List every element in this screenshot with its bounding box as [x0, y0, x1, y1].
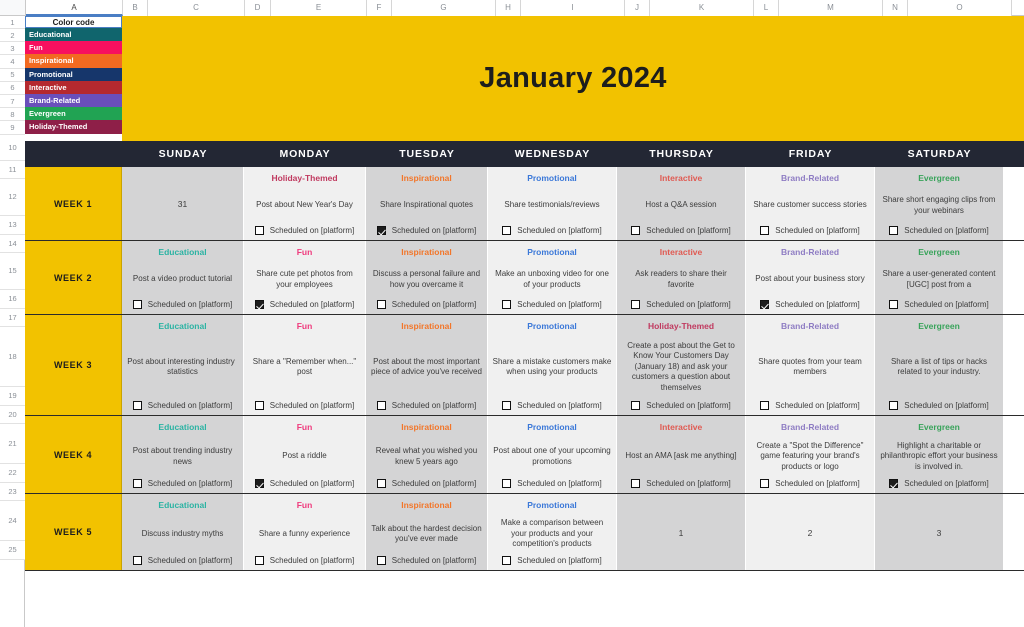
calendar-cell[interactable]: EvergreenShare a list of tips or hacks r… [875, 315, 1004, 415]
weekday-header-monday: MONDAY [244, 141, 366, 167]
post-description: Host an AMA [ask me anything] [621, 437, 741, 476]
scheduled-row[interactable]: Scheduled on [platform] [750, 226, 870, 235]
scheduled-label: Scheduled on [platform] [270, 401, 355, 410]
scheduled-row[interactable]: Scheduled on [platform] [370, 401, 483, 410]
post-description: Post a riddle [248, 437, 361, 476]
calendar-cell[interactable]: 31 [122, 167, 244, 240]
scheduled-label: Scheduled on [platform] [148, 556, 233, 565]
post-category-label: Inspirational [401, 321, 452, 332]
column-header-M[interactable]: M [779, 0, 883, 16]
scheduled-label: Scheduled on [platform] [904, 401, 989, 410]
week-label-4: WEEK 4 [25, 416, 122, 493]
calendar-cell[interactable]: PromotionalShare a mistake customers mak… [488, 315, 617, 415]
scheduled-checkbox[interactable] [631, 300, 640, 309]
post-category-label: Inspirational [401, 173, 452, 184]
post-category-label: Fun [297, 321, 313, 332]
scheduled-row[interactable]: Scheduled on [platform] [879, 300, 999, 309]
post-category-label: Interactive [660, 173, 703, 184]
post-category-label: Inspirational [401, 422, 452, 433]
row-number-22[interactable]: 22 [0, 464, 25, 483]
week-label-2: WEEK 2 [25, 241, 122, 314]
day-number: 1 [621, 500, 741, 565]
row-number-17[interactable]: 17 [0, 309, 25, 327]
scheduled-checkbox[interactable] [133, 479, 142, 488]
scheduled-row[interactable]: Scheduled on [platform] [750, 479, 870, 488]
calendar-cell[interactable]: PromotionalMake a comparison between you… [488, 494, 617, 570]
month-banner: January 2024 [122, 16, 1024, 141]
weekday-header-sunday: SUNDAY [122, 141, 244, 167]
scheduled-checkbox[interactable] [502, 226, 511, 235]
column-header-strip[interactable]: A B C D E F G H I J K L M N O [0, 0, 1024, 16]
legend-item-inspirational: Inspirational [25, 54, 122, 67]
scheduled-row[interactable]: Scheduled on [platform] [248, 401, 361, 410]
post-description: Make an unboxing video for one of your p… [492, 262, 612, 297]
column-header-O[interactable]: O [908, 0, 1012, 16]
post-category-label: Brand-Related [781, 173, 839, 184]
scheduled-checkbox[interactable] [760, 479, 769, 488]
scheduled-checkbox[interactable] [502, 401, 511, 410]
row-number-1[interactable]: 1 [0, 16, 25, 29]
scheduled-checkbox[interactable] [502, 300, 511, 309]
row-number-18[interactable]: 18 [0, 327, 25, 387]
post-category-label: Holiday-Themed [271, 173, 337, 184]
calendar-cell[interactable]: InteractiveHost an AMA [ask me anything]… [617, 416, 746, 493]
scheduled-checkbox[interactable] [760, 226, 769, 235]
row-number-21[interactable]: 21 [0, 424, 25, 464]
post-category-label: Evergreen [918, 321, 960, 332]
calendar-cell[interactable]: PromotionalPost about one of your upcomi… [488, 416, 617, 493]
scheduled-label: Scheduled on [platform] [646, 226, 731, 235]
calendar-cell[interactable]: InspirationalPost about the most importa… [366, 315, 488, 415]
row-number-8[interactable]: 8 [0, 108, 25, 121]
calendar-cell[interactable]: 3 [875, 494, 1004, 570]
scheduled-checkbox[interactable] [631, 401, 640, 410]
post-category-label: Promotional [527, 321, 577, 332]
scheduled-row[interactable]: Scheduled on [platform] [126, 401, 239, 410]
scheduled-checkbox[interactable] [889, 300, 898, 309]
post-category-label: Inspirational [401, 247, 452, 258]
calendar-cell[interactable]: EducationalPost about interesting indust… [122, 315, 244, 415]
post-description: Create a post about the Get to Know Your… [621, 336, 741, 398]
column-header-H[interactable]: H [496, 0, 521, 16]
post-description: Post about interesting industry statisti… [126, 336, 239, 398]
scheduled-checkbox[interactable] [377, 401, 386, 410]
scheduled-checkbox[interactable] [133, 556, 142, 565]
row-number-23[interactable]: 23 [0, 483, 25, 501]
post-description: Post about your business story [750, 262, 870, 297]
scheduled-checkbox[interactable] [889, 226, 898, 235]
calendar-cell[interactable]: Brand-RelatedShare quotes from your team… [746, 315, 875, 415]
column-header-J[interactable]: J [625, 0, 650, 16]
month-title: January 2024 [479, 62, 666, 95]
scheduled-row[interactable]: Scheduled on [platform] [370, 479, 483, 488]
calendar-cell[interactable]: EvergreenHighlight a charitable or phila… [875, 416, 1004, 493]
calendar-cell[interactable]: EducationalDiscuss industry mythsSchedul… [122, 494, 244, 570]
post-category-label: Brand-Related [781, 247, 839, 258]
post-description: Share customer success stories [750, 188, 870, 223]
scheduled-label: Scheduled on [platform] [904, 226, 989, 235]
row-number-5[interactable]: 5 [0, 69, 25, 82]
calendar-cell[interactable]: InspirationalTalk about the hardest deci… [366, 494, 488, 570]
week-label-1: WEEK 1 [25, 167, 122, 240]
scheduled-label: Scheduled on [platform] [775, 300, 860, 309]
legend-item-interactive: Interactive [25, 81, 122, 94]
scheduled-label: Scheduled on [platform] [270, 226, 355, 235]
legend-item-promotional: Promotional [25, 68, 122, 81]
weekday-header-saturday: SATURDAY [875, 141, 1004, 167]
row-number-6[interactable]: 6 [0, 82, 25, 95]
scheduled-checkbox[interactable] [377, 226, 386, 235]
scheduled-label: Scheduled on [platform] [270, 300, 355, 309]
post-category-label: Educational [158, 321, 206, 332]
scheduled-checkbox[interactable] [631, 226, 640, 235]
scheduled-checkbox[interactable] [133, 401, 142, 410]
scheduled-checkbox[interactable] [255, 300, 264, 309]
scheduled-label: Scheduled on [platform] [646, 401, 731, 410]
post-description: Post a video product tutorial [126, 262, 239, 297]
row-number-10[interactable]: 10 [0, 135, 25, 161]
day-number: 31 [126, 173, 239, 235]
scheduled-label: Scheduled on [platform] [775, 226, 860, 235]
scheduled-checkbox[interactable] [255, 479, 264, 488]
calendar-cell[interactable]: Brand-RelatedCreate a "Spot the Differen… [746, 416, 875, 493]
scheduled-row[interactable]: Scheduled on [platform] [492, 300, 612, 309]
post-category-label: Fun [297, 500, 313, 511]
calendar-cell[interactable]: EvergreenShare short engaging clips from… [875, 167, 1004, 240]
scheduled-label: Scheduled on [platform] [148, 401, 233, 410]
row-number-15[interactable]: 15 [0, 253, 25, 290]
calendar-cell[interactable]: PromotionalMake an unboxing video for on… [488, 241, 617, 314]
post-description: Share short engaging clips from your web… [879, 188, 999, 223]
scheduled-checkbox[interactable] [377, 556, 386, 565]
column-header-C[interactable]: C [148, 0, 245, 16]
scheduled-label: Scheduled on [platform] [392, 226, 477, 235]
row-number-19[interactable]: 19 [0, 387, 25, 406]
scheduled-checkbox[interactable] [255, 556, 264, 565]
post-category-label: Educational [158, 247, 206, 258]
legend-title: Color code [25, 16, 122, 28]
scheduled-row[interactable]: Scheduled on [platform] [248, 226, 361, 235]
calendar-cell[interactable]: EducationalPost about trending industry … [122, 416, 244, 493]
scheduled-label: Scheduled on [platform] [270, 556, 355, 565]
post-category-label: Evergreen [918, 247, 960, 258]
post-category-label: Inspirational [401, 500, 452, 511]
calendar-cell[interactable]: 1 [617, 494, 746, 570]
scheduled-label: Scheduled on [platform] [517, 401, 602, 410]
post-category-label: Brand-Related [781, 422, 839, 433]
column-header-E[interactable]: E [271, 0, 367, 16]
scheduled-checkbox[interactable] [502, 479, 511, 488]
calendar-cell[interactable]: FunPost a riddleScheduled on [platform] [244, 416, 366, 493]
column-header-D[interactable]: D [245, 0, 271, 16]
scheduled-label: Scheduled on [platform] [775, 479, 860, 488]
calendar-cell[interactable]: FunShare cute pet photos from your emplo… [244, 241, 366, 314]
row-number-4[interactable]: 4 [0, 55, 25, 68]
post-description: Share Inspirational quotes [370, 188, 483, 223]
column-header-B[interactable]: B [123, 0, 148, 16]
post-description: Share a mistake customers make when usin… [492, 336, 612, 398]
post-description: Post about the most important piece of a… [370, 336, 483, 398]
day-number: 2 [750, 500, 870, 565]
post-category-label: Fun [297, 247, 313, 258]
legend-item-holiday-themed: Holiday-Themed [25, 120, 122, 133]
scheduled-row[interactable]: Scheduled on [platform] [750, 401, 870, 410]
scheduled-row[interactable]: Scheduled on [platform] [879, 479, 999, 488]
scheduled-label: Scheduled on [platform] [646, 479, 731, 488]
row-number-9[interactable]: 9 [0, 121, 25, 134]
row-number-7[interactable]: 7 [0, 95, 25, 108]
row-number-24[interactable]: 24 [0, 501, 25, 541]
legend-item-evergreen: Evergreen [25, 107, 122, 120]
calendar-cell[interactable]: Brand-RelatedPost about your business st… [746, 241, 875, 314]
calendar-cell[interactable]: InspirationalReveal what you wished you … [366, 416, 488, 493]
day-number: 3 [879, 500, 999, 565]
post-description: Share a funny experience [248, 515, 361, 553]
post-category-label: Interactive [660, 247, 703, 258]
scheduled-row[interactable]: Scheduled on [platform] [126, 556, 239, 565]
calendar-cell[interactable]: 2 [746, 494, 875, 570]
weekday-header-row: SUNDAYMONDAYTUESDAYWEDNESDAYTHURSDAYFRID… [25, 141, 1024, 167]
scheduled-checkbox[interactable] [889, 479, 898, 488]
scheduled-row[interactable]: Scheduled on [platform] [621, 300, 741, 309]
post-description: Ask readers to share their favorite [621, 262, 741, 297]
post-description: Discuss a personal failure and how you o… [370, 262, 483, 297]
post-description: Talk about the hardest decision you've e… [370, 515, 483, 553]
week-row: WEEK 131Holiday-ThemedPost about New Yea… [25, 167, 1024, 241]
weekday-header-thursday: THURSDAY [617, 141, 746, 167]
calendar-cell[interactable]: InspirationalDiscuss a personal failure … [366, 241, 488, 314]
calendar-cell[interactable]: InspirationalShare Inspirational quotesS… [366, 167, 488, 240]
calendar-cell[interactable]: Holiday-ThemedCreate a post about the Ge… [617, 315, 746, 415]
column-header-L[interactable]: L [754, 0, 779, 16]
post-category-label: Brand-Related [781, 321, 839, 332]
calendar-weeks: WEEK 131Holiday-ThemedPost about New Yea… [25, 167, 1024, 571]
calendar-cell[interactable]: PromotionalShare testimonials/reviewsSch… [488, 167, 617, 240]
post-description: Post about trending industry news [126, 437, 239, 476]
row-number-3[interactable]: 3 [0, 42, 25, 55]
post-description: Share a "Remember when..." post [248, 336, 361, 398]
scheduled-row[interactable]: Scheduled on [platform] [621, 226, 741, 235]
post-category-label: Promotional [527, 422, 577, 433]
scheduled-row[interactable]: Scheduled on [platform] [370, 300, 483, 309]
scheduled-row[interactable]: Scheduled on [platform] [248, 556, 361, 565]
row-number-20[interactable]: 20 [0, 406, 25, 424]
scheduled-row[interactable]: Scheduled on [platform] [621, 401, 741, 410]
post-description: Make a comparison between your products … [492, 515, 612, 553]
post-category-label: Promotional [527, 500, 577, 511]
post-category-label: Fun [297, 422, 313, 433]
scheduled-label: Scheduled on [platform] [775, 401, 860, 410]
post-description: Share cute pet photos from your employee… [248, 262, 361, 297]
column-header-A[interactable]: A [26, 0, 123, 16]
scheduled-checkbox[interactable] [502, 556, 511, 565]
scheduled-checkbox[interactable] [133, 300, 142, 309]
calendar-cell[interactable]: InteractiveAsk readers to share their fa… [617, 241, 746, 314]
calendar-cell[interactable]: Holiday-ThemedPost about New Year's DayS… [244, 167, 366, 240]
post-category-label: Educational [158, 422, 206, 433]
post-description: Post about one of your upcoming promotio… [492, 437, 612, 476]
calendar-cell[interactable]: Brand-RelatedShare customer success stor… [746, 167, 875, 240]
week-row: WEEK 4EducationalPost about trending ind… [25, 416, 1024, 494]
color-code-legend: Color code EducationalFunInspirationalPr… [25, 16, 122, 134]
scheduled-row[interactable]: Scheduled on [platform] [621, 479, 741, 488]
row-number-25[interactable]: 25 [0, 541, 25, 560]
calendar-cell[interactable]: EvergreenShare a user-generated content … [875, 241, 1004, 314]
weekday-header-friday: FRIDAY [746, 141, 875, 167]
scheduled-label: Scheduled on [platform] [148, 300, 233, 309]
scheduled-row[interactable]: Scheduled on [platform] [248, 300, 361, 309]
scheduled-label: Scheduled on [platform] [392, 300, 477, 309]
scheduled-checkbox[interactable] [760, 300, 769, 309]
scheduled-row[interactable]: Scheduled on [platform] [492, 479, 612, 488]
row-number-11[interactable]: 11 [0, 161, 25, 179]
legend-item-fun: Fun [25, 41, 122, 54]
scheduled-label: Scheduled on [platform] [517, 226, 602, 235]
select-all-corner[interactable] [0, 0, 26, 15]
scheduled-label: Scheduled on [platform] [646, 300, 731, 309]
row-number-gutter[interactable]: 1234567891011121314151617181920212223242… [0, 16, 25, 627]
post-category-label: Holiday-Themed [648, 321, 714, 332]
scheduled-checkbox[interactable] [255, 401, 264, 410]
post-category-label: Promotional [527, 247, 577, 258]
post-description: Share quotes from your team members [750, 336, 870, 398]
scheduled-row[interactable]: Scheduled on [platform] [492, 401, 612, 410]
week-row: WEEK 3EducationalPost about interesting … [25, 315, 1024, 416]
scheduled-checkbox[interactable] [631, 479, 640, 488]
spreadsheet-canvas: A B C D E F G H I J K L M N O 1234567891… [0, 0, 1024, 627]
scheduled-checkbox[interactable] [889, 401, 898, 410]
post-description: Create a "Spot the Difference" game feat… [750, 437, 870, 476]
scheduled-label: Scheduled on [platform] [517, 479, 602, 488]
column-header-I[interactable]: I [521, 0, 625, 16]
scheduled-row[interactable]: Scheduled on [platform] [750, 300, 870, 309]
scheduled-label: Scheduled on [platform] [148, 479, 233, 488]
scheduled-row[interactable]: Scheduled on [platform] [492, 556, 612, 565]
scheduled-row[interactable]: Scheduled on [platform] [126, 300, 239, 309]
post-category-label: Evergreen [918, 173, 960, 184]
column-header-G[interactable]: G [392, 0, 496, 16]
row-number-12[interactable]: 12 [0, 179, 25, 216]
row-number-14[interactable]: 14 [0, 235, 25, 253]
scheduled-label: Scheduled on [platform] [517, 300, 602, 309]
weekday-header-spacer [25, 141, 122, 167]
row-number-13[interactable]: 13 [0, 216, 25, 235]
scheduled-label: Scheduled on [platform] [517, 556, 602, 565]
post-category-label: Promotional [527, 173, 577, 184]
scheduled-row[interactable]: Scheduled on [platform] [879, 401, 999, 410]
scheduled-row[interactable]: Scheduled on [platform] [370, 226, 483, 235]
column-header-K[interactable]: K [650, 0, 754, 16]
post-description: Post about New Year's Day [248, 188, 361, 223]
week-label-3: WEEK 3 [25, 315, 122, 415]
calendar-cell[interactable]: FunShare a "Remember when..." postSchedu… [244, 315, 366, 415]
scheduled-label: Scheduled on [platform] [904, 479, 989, 488]
scheduled-label: Scheduled on [platform] [392, 479, 477, 488]
calendar-cell[interactable]: InteractiveHost a Q&A sessionScheduled o… [617, 167, 746, 240]
post-description: Discuss industry myths [126, 515, 239, 553]
post-description: Share a list of tips or hacks related to… [879, 336, 999, 398]
post-description: Share testimonials/reviews [492, 188, 612, 223]
week-label-5: WEEK 5 [25, 494, 122, 570]
scheduled-label: Scheduled on [platform] [392, 401, 477, 410]
scheduled-row[interactable]: Scheduled on [platform] [879, 226, 999, 235]
week-row: WEEK 5EducationalDiscuss industry mythsS… [25, 494, 1024, 571]
post-description: Reveal what you wished you knew 5 years … [370, 437, 483, 476]
legend-item-educational: Educational [25, 28, 122, 41]
scheduled-row[interactable]: Scheduled on [platform] [126, 479, 239, 488]
weekday-header-wednesday: WEDNESDAY [488, 141, 617, 167]
scheduled-row[interactable]: Scheduled on [platform] [248, 479, 361, 488]
calendar-cell[interactable]: EducationalPost a video product tutorial… [122, 241, 244, 314]
scheduled-checkbox[interactable] [377, 300, 386, 309]
scheduled-checkbox[interactable] [377, 479, 386, 488]
post-description: Highlight a charitable or philanthropic … [879, 437, 999, 476]
weekday-header-tuesday: TUESDAY [366, 141, 488, 167]
legend-item-brand-related: Brand-Related [25, 94, 122, 107]
row-number-2[interactable]: 2 [0, 29, 25, 42]
week-row: WEEK 2EducationalPost a video product tu… [25, 241, 1024, 315]
column-header-N[interactable]: N [883, 0, 908, 16]
post-category-label: Evergreen [918, 422, 960, 433]
scheduled-row[interactable]: Scheduled on [platform] [492, 226, 612, 235]
scheduled-row[interactable]: Scheduled on [platform] [370, 556, 483, 565]
scheduled-checkbox[interactable] [760, 401, 769, 410]
scheduled-checkbox[interactable] [255, 226, 264, 235]
calendar-cell[interactable]: FunShare a funny experienceScheduled on … [244, 494, 366, 570]
row-number-16[interactable]: 16 [0, 290, 25, 309]
scheduled-label: Scheduled on [platform] [904, 300, 989, 309]
scheduled-label: Scheduled on [platform] [392, 556, 477, 565]
post-category-label: Interactive [660, 422, 703, 433]
post-description: Share a user-generated content [UGC] pos… [879, 262, 999, 297]
post-description: Host a Q&A session [621, 188, 741, 223]
grid-body: Color code EducationalFunInspirationalPr… [25, 16, 1024, 627]
post-category-label: Educational [158, 500, 206, 511]
column-header-F[interactable]: F [367, 0, 392, 16]
scheduled-label: Scheduled on [platform] [270, 479, 355, 488]
